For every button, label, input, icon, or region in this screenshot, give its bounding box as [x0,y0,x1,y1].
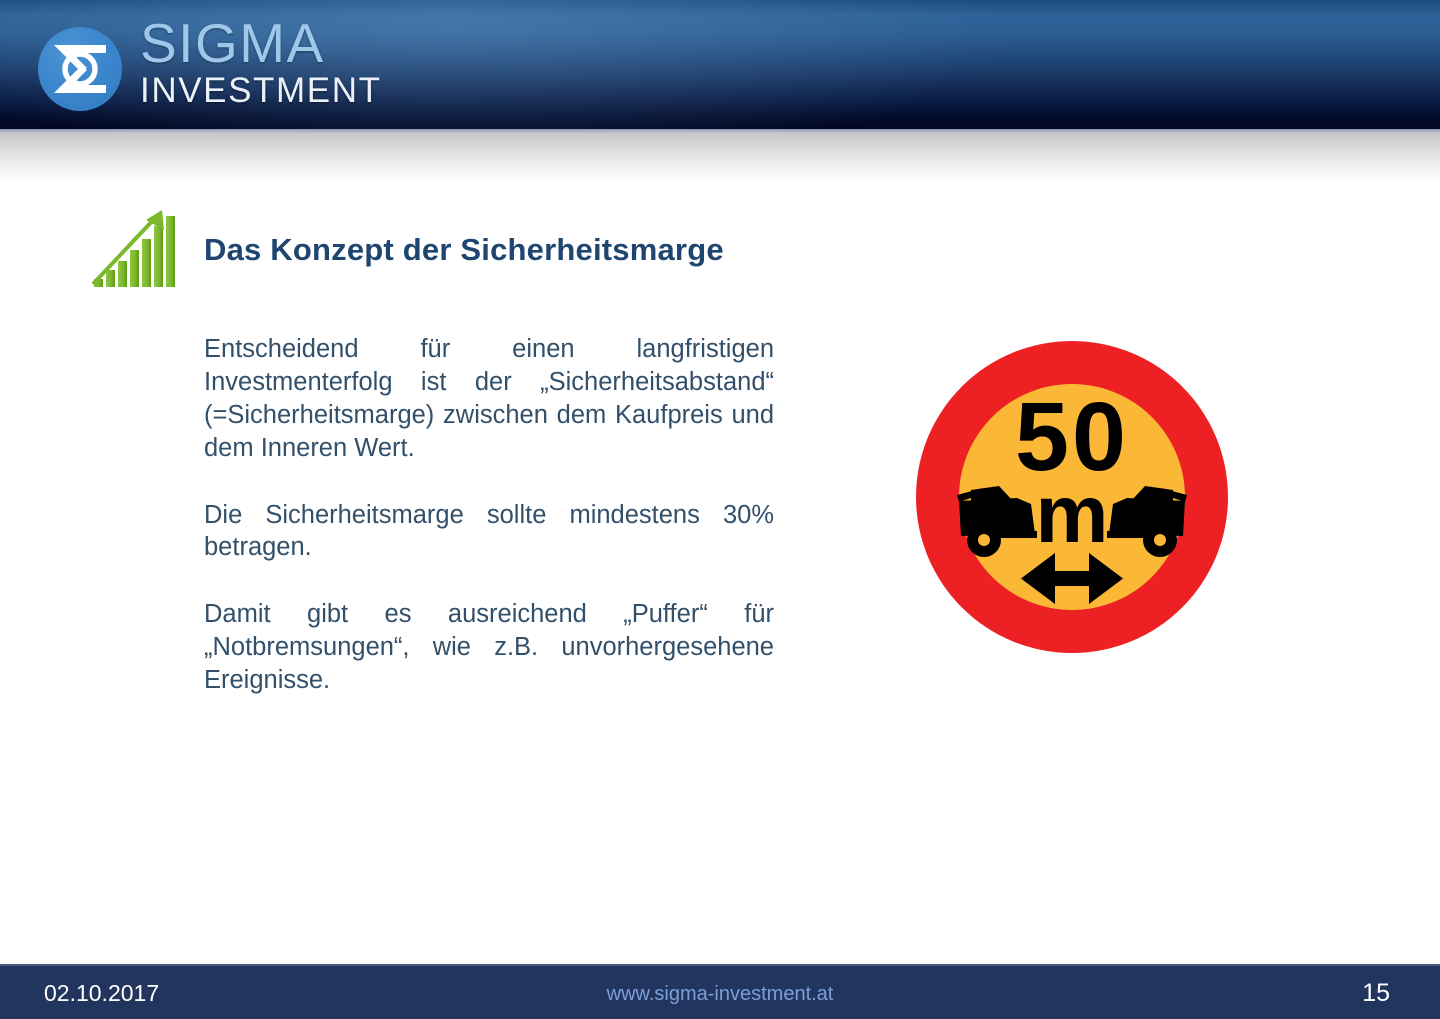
brand-logo [38,27,122,111]
brand-text: SIGMA INVESTMENT [140,16,382,108]
presentation-slide: SIGMA INVESTMENT [0,0,1440,1019]
brand-secondary-label: INVESTMENT [140,73,382,108]
minimum-distance-traffic-sign: 50 [913,338,1231,656]
header-fade-band [0,134,1440,180]
footer-website-link[interactable]: www.sigma-investment.at [0,983,1440,1006]
brand-primary-label: SIGMA [140,16,382,71]
body-text-block: Entscheidend für einen langfristigen Inv… [204,333,774,697]
slide-footer: 02.10.2017 www.sigma-investment.at 15 [0,964,1440,1019]
slide-header: SIGMA INVESTMENT [0,0,1440,129]
paragraph-2: Die Sicherheitsmarge sollte mindestens 3… [204,499,774,565]
page-title: Das Konzept der Sicherheitsmarge [204,232,724,268]
growth-bar-chart-icon [88,208,176,292]
paragraph-3: Damit gibt es ausreichend „Puffer“ für „… [204,598,774,697]
sigma-logo-icon [38,27,122,111]
paragraph-1: Entscheidend für einen langfristigen Inv… [204,333,774,465]
footer-page-number: 15 [1362,979,1390,1008]
distance-unit-label: m [1036,469,1109,560]
slide-title-row: Das Konzept der Sicherheitsmarge [88,208,724,292]
